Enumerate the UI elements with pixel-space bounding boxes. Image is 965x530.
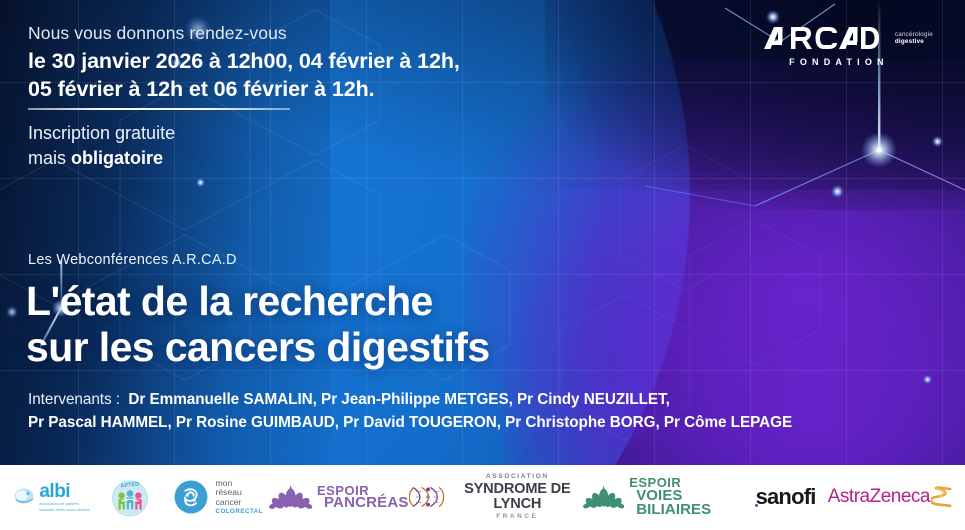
partner-logo-sanofi[interactable]: sanofi <box>743 484 827 510</box>
espoir-pancreas-line-2: PANCRÉAS <box>324 496 409 510</box>
mrc-line-3: cancer <box>216 498 264 508</box>
astrazeneca-name: AstraZeneca <box>828 486 930 508</box>
dates-block: Nous vous donnons rendez-vous le 30 janv… <box>28 21 460 104</box>
dates-line-1: le 30 janvier 2026 à 12h00, 04 février à… <box>28 47 460 76</box>
partner-logo-espoir-voies-biliaires[interactable]: ESPOIR VOIES BILIAIRES <box>583 477 744 517</box>
arcad-tagline-line-2: digestive <box>895 39 933 46</box>
partner-logo-espoir-pancreas[interactable]: ESPOIR PANCRÉAS <box>269 480 409 514</box>
partner-logo-astrazeneca[interactable]: AstraZeneca <box>828 484 955 510</box>
page-title: L'état de la recherche sur les cancers d… <box>26 278 490 371</box>
partner-logo-mon-reseau-cancer[interactable]: mon réseau cancer COLORECTAL <box>166 478 269 516</box>
lynch-line-2: SYNDROME DE LYNCH <box>452 482 583 513</box>
albi-name: albi <box>39 482 90 501</box>
arcad-tagline: cancérologie digestive <box>895 22 933 45</box>
dates-lead-text: Nous vous donnons rendez-vous <box>28 21 460 46</box>
dates-line-2: 05 février à 12h et 06 février à 12h. <box>28 75 460 104</box>
series-eyebrow: Les Webconférences A.R.CA.D <box>28 252 237 268</box>
albi-emblem-icon <box>14 487 36 507</box>
webinar-announcement-poster: Nous vous donnons rendez-vous le 30 janv… <box>0 0 965 530</box>
registration-strong: obligatoire <box>71 148 163 168</box>
lynch-line-3: FRANCE <box>452 514 583 521</box>
registration-line-1: Inscription gratuite <box>28 121 175 146</box>
albi-sub-1: association de patients <box>39 502 90 507</box>
title-line-2: sur les cancers digestifs <box>26 324 490 370</box>
lotus-green-icon <box>583 480 624 514</box>
albi-sub-2: maladies rares voies biliaires <box>39 508 90 513</box>
sanofi-name: sanofi <box>756 484 816 509</box>
speakers-line-1: Intervenants : Dr Emmanuelle SAMALIN, Pr… <box>28 388 792 411</box>
speakers-block: Intervenants : Dr Emmanuelle SAMALIN, Pr… <box>28 388 792 435</box>
partner-logo-apted[interactable]: APTED <box>94 476 166 518</box>
dna-helix-icon <box>409 482 447 512</box>
espoir-voies-line-2: VOIES BILIAIRES <box>636 489 743 518</box>
arcad-wordmark-icon <box>763 22 888 53</box>
apted-emblem-icon: APTED <box>109 476 151 518</box>
arcad-subtitle: FONDATION <box>745 57 933 67</box>
arcad-logo: cancérologie digestive FONDATION <box>763 22 933 67</box>
registration-block: Inscription gratuite mais obligatoire <box>28 121 175 171</box>
poster-content: Nous vous donnons rendez-vous le 30 janv… <box>0 0 965 530</box>
title-line-1: L'état de la recherche <box>26 278 490 324</box>
divider-rule <box>28 108 290 110</box>
partner-logo-bar: albi association de patients maladies ra… <box>0 465 965 530</box>
lynch-line-1: ASSOCIATION <box>452 474 583 481</box>
astrazeneca-helix-icon <box>931 484 955 510</box>
speakers-label: Intervenants : <box>28 391 120 408</box>
speakers-names-2: Pr Pascal HAMMEL, Pr Rosine GUIMBAUD, Pr… <box>28 411 792 434</box>
speakers-names-1: Dr Emmanuelle SAMALIN, Pr Jean-Philippe … <box>128 391 669 408</box>
mrc-line-4: COLORECTAL <box>216 509 264 516</box>
mon-reseau-cancer-emblem-icon <box>172 478 210 516</box>
registration-line-2: mais obligatoire <box>28 146 175 171</box>
partner-logo-syndrome-lynch-france[interactable]: ASSOCIATION SYNDROME DE LYNCH FRANCE <box>409 474 583 521</box>
registration-prefix: mais <box>28 148 71 168</box>
lotus-purple-icon <box>269 480 312 514</box>
partner-logo-albi[interactable]: albi association de patients maladies ra… <box>10 482 94 513</box>
